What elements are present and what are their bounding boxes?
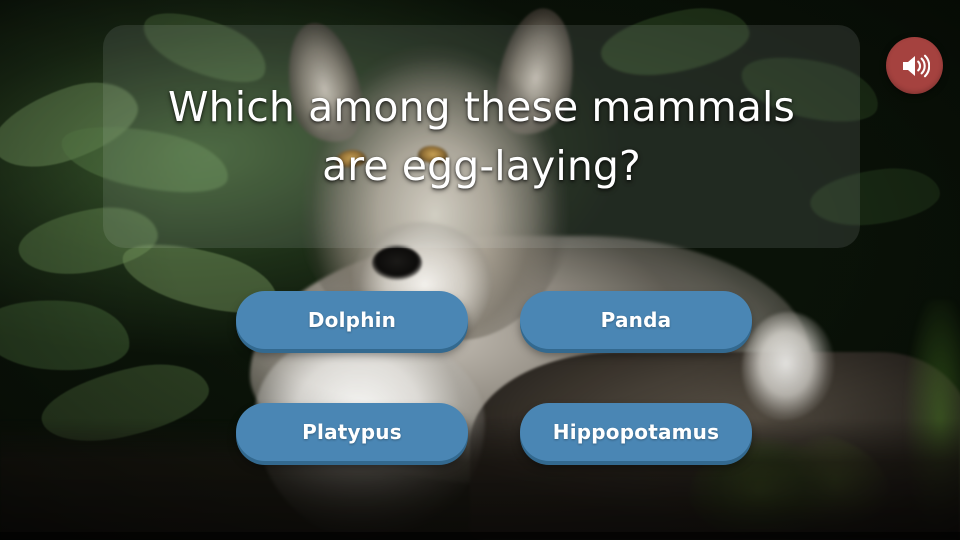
answer-option-dolphin[interactable]: Dolphin: [236, 291, 468, 349]
answer-label: Dolphin: [308, 308, 396, 332]
answer-option-panda[interactable]: Panda: [520, 291, 752, 349]
speaker-on-icon: [900, 53, 930, 79]
question-text: Which among these mammals are egg-laying…: [141, 78, 822, 194]
bottom-band: [0, 532, 960, 540]
foliage-leaf: [0, 292, 133, 377]
sound-toggle-button[interactable]: [886, 37, 943, 94]
quiz-screen: Which among these mammals are egg-laying…: [0, 0, 960, 540]
question-card: Which among these mammals are egg-laying…: [103, 25, 860, 248]
answer-label: Platypus: [302, 420, 402, 444]
answer-label: Panda: [601, 308, 672, 332]
answer-label: Hippopotamus: [553, 420, 719, 444]
wolf-nose: [372, 246, 422, 280]
answer-option-platypus[interactable]: Platypus: [236, 403, 468, 461]
answer-options: Dolphin Panda Platypus Hippopotamus: [236, 291, 754, 461]
answer-option-hippopotamus[interactable]: Hippopotamus: [520, 403, 752, 461]
